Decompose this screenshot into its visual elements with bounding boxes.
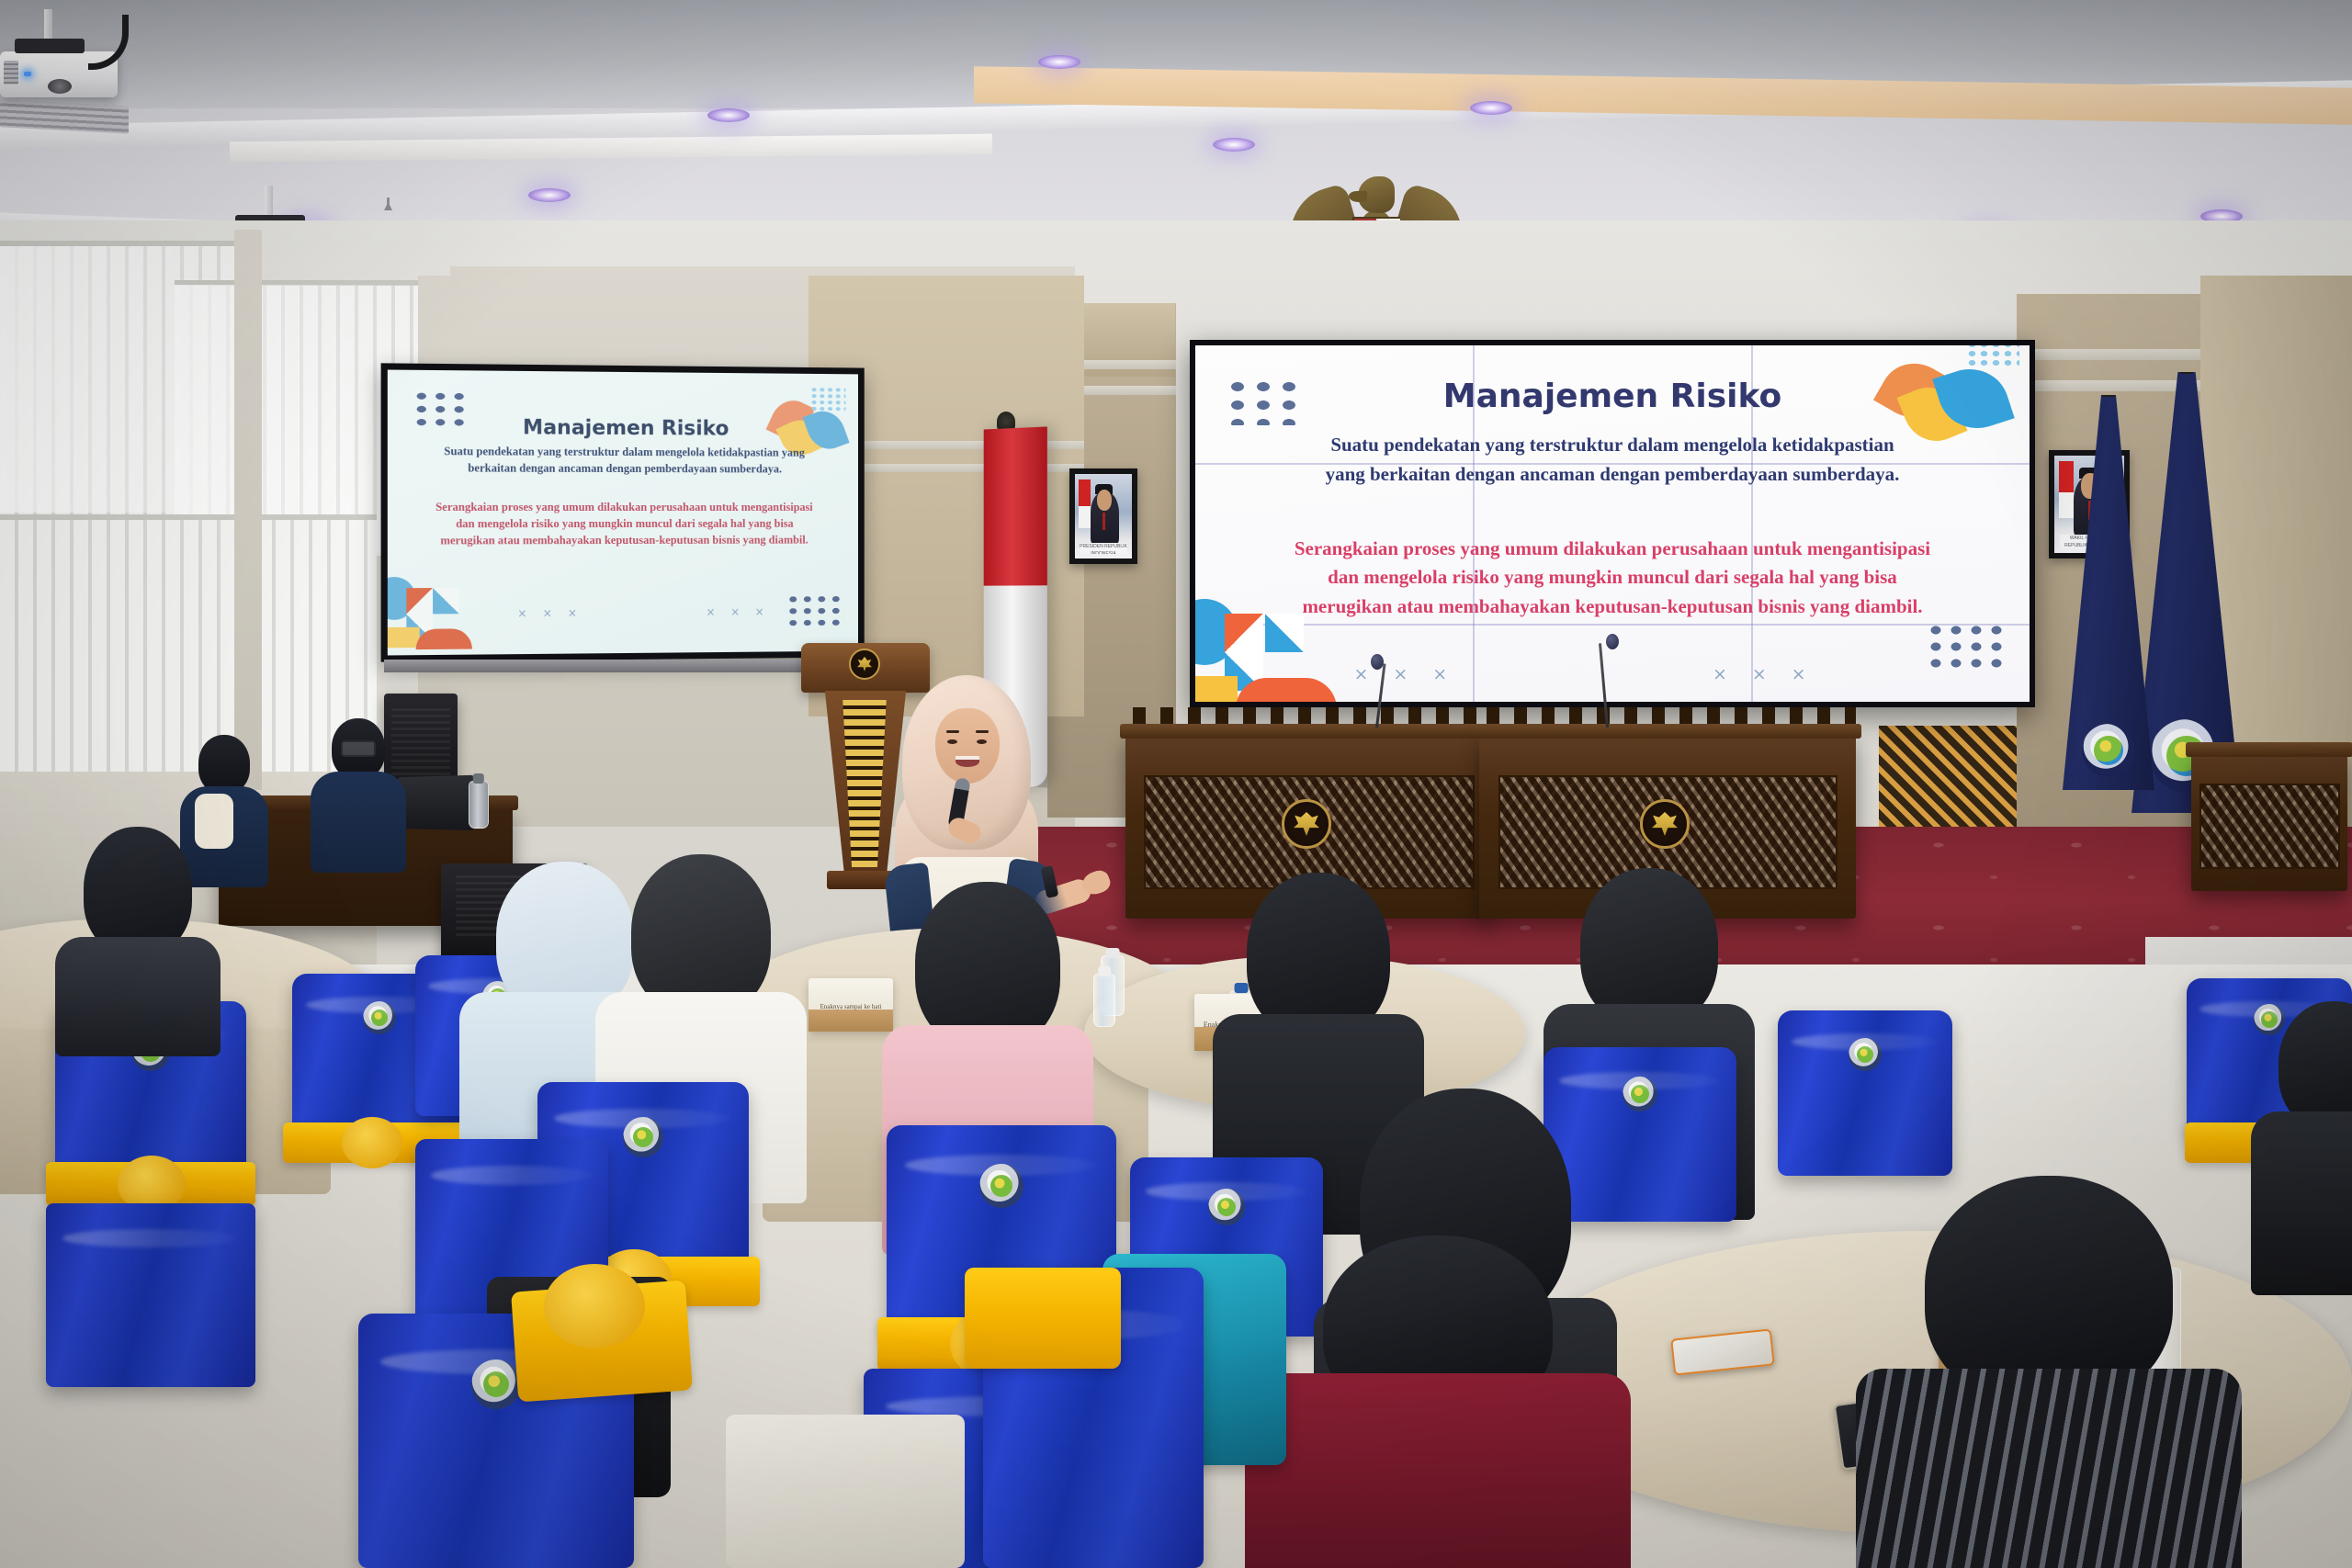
chair-crest-icon [1623,1077,1657,1111]
downlight-icon [528,188,571,202]
president-portrait: PRESIDEN REPUBLIK INDONESIA [1069,468,1137,564]
screen-bottom-bar [384,660,869,672]
led-x-marks: × × × [1354,664,1457,684]
led-video-wall: Manajemen Risiko Suatu pendekatan yang t… [1190,340,2035,707]
chair-sash [965,1268,1121,1369]
slide-paragraph-1: Suatu pendekatan yang terstruktur dalam … [441,443,808,478]
geometric-decoration [388,577,474,650]
slide-left: Manajemen Risiko Suatu pendekatan yang t… [388,370,858,656]
banquet-chair-seat [46,1203,255,1387]
chair-crest-icon [471,1359,521,1409]
chair-crest-icon [1208,1189,1245,1225]
chair-sash-knot [342,1117,402,1168]
attendee-foreground [1245,1235,1631,1568]
side-cabinet [2191,753,2347,891]
wall-column [234,230,262,790]
downlight-icon [707,108,750,122]
slide-paragraph-2: Serangkaian proses yang umum dilakukan p… [431,498,817,548]
slide-title: Manajemen Risiko [388,415,858,441]
led-slide-title: Manajemen Risiko [1195,378,2030,415]
ceiling-projector [0,51,118,97]
slide-x-marks: × × × [707,605,770,618]
attendee [2251,1001,2352,1277]
dot-grid-decoration [1926,622,2005,673]
table-microphone [1606,634,1619,649]
attendee [55,827,220,1038]
water-bottle [1093,974,1115,1027]
wall-trim [2017,380,2200,391]
led-x-marks: × × × [1713,664,1815,684]
downlight-icon [1470,101,1512,115]
banquet-chair [1778,1010,1952,1176]
dot-grid-decoration [786,592,840,629]
decorative-lattice [1879,726,2017,827]
operator-laptop [398,775,474,830]
geometric-decoration [1195,599,1333,702]
chair-crest-icon [1849,1038,1882,1071]
window-blinds [0,514,110,781]
chair-crest-icon [979,1164,1023,1208]
chair-crest-icon [623,1117,663,1157]
staff-member [311,718,406,865]
auditorium-scene: BHINNEKA TUNGGAL IKA PRESIDEN REPUBLIK I… [0,0,2352,1568]
portrait-caption: PRESIDEN REPUBLIK INDONESIA [1080,543,1127,555]
slide-x-marks: × × × [517,607,582,621]
led-slide-paragraph-2: Serangkaian proses yang umum dilakukan p… [1287,535,1938,622]
downlight-icon [1038,55,1080,69]
chair-sash-knot [544,1264,645,1348]
thermos-bottle [469,781,489,829]
snack-box-label: Enaknya sampai ke hati [814,1003,888,1010]
table-microphone [1371,654,1384,670]
eyeglasses-icon [341,740,376,757]
downlight-icon [1213,138,1255,152]
snack-box: Enaknya sampai ke hati [808,978,893,1032]
led-slide-paragraph-1: Suatu pendekatan yang terstruktur dalam … [1312,431,1913,489]
attendee-foreground [1856,1176,2242,1568]
wall-trim [2017,349,2200,360]
paper-bag [726,1415,965,1568]
chair-crest-icon [363,1001,396,1034]
projection-screen-left: Manajemen Risiko Suatu pendekatan yang t… [381,363,865,661]
presenter-face [935,708,1000,784]
